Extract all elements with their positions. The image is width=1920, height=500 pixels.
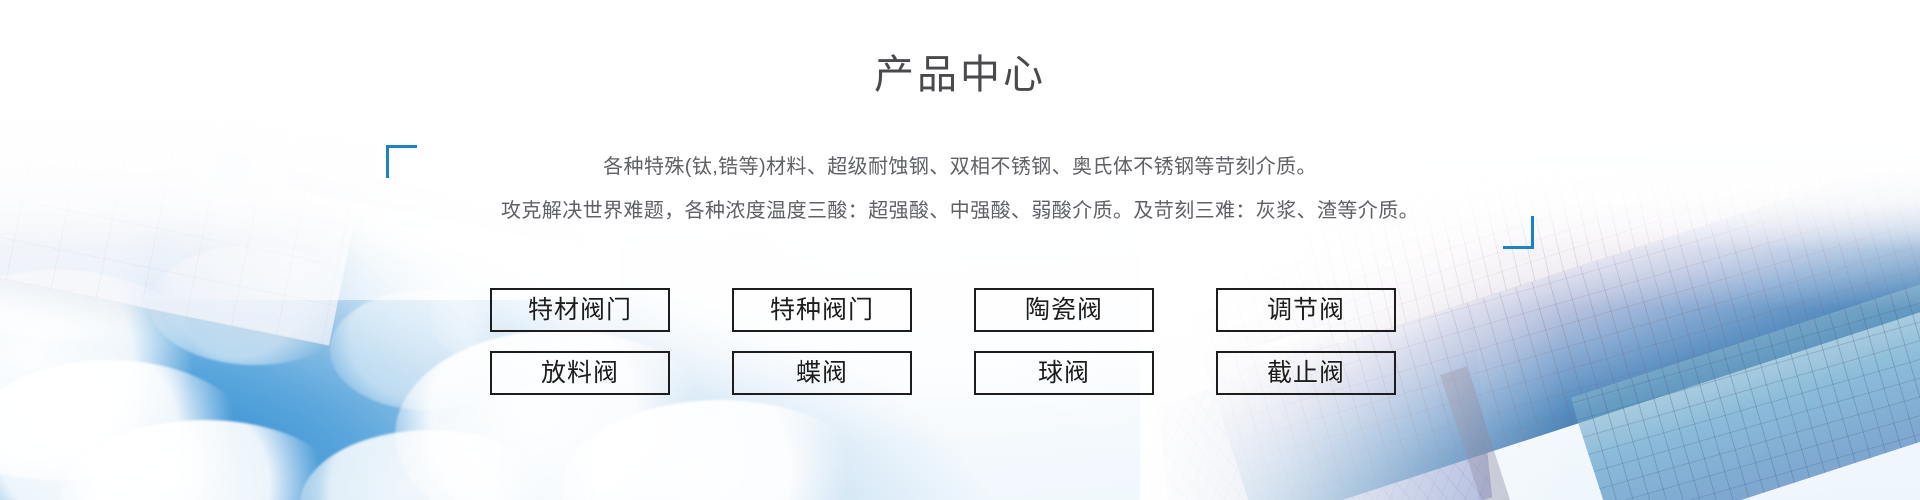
category-button-jiezhi-fa[interactable]: 截止阀 — [1216, 351, 1396, 395]
category-button-tecai-famen[interactable]: 特材阀门 — [490, 288, 670, 332]
banner-content: 产品中心 各种特殊(钛,锆等)材料、超级耐蚀钢、双相不锈钢、奥氏体不锈钢等苛刻介… — [0, 0, 1920, 500]
description-line-2: 攻克解决世界难题，各种浓度温度三酸：超强酸、中强酸、弱酸介质。及苛刻三难：灰浆、… — [360, 189, 1560, 233]
category-row-1: 特材阀门 特种阀门 陶瓷阀 调节阀 — [490, 288, 1430, 332]
category-button-tezhong-famen[interactable]: 特种阀门 — [732, 288, 912, 332]
category-button-fangliao-fa[interactable]: 放料阀 — [490, 351, 670, 395]
description-line-1: 各种特殊(钛,锆等)材料、超级耐蚀钢、双相不锈钢、奥氏体不锈钢等苛刻介质。 — [360, 145, 1560, 189]
category-button-qiu-fa[interactable]: 球阀 — [974, 351, 1154, 395]
category-button-taoci-fa[interactable]: 陶瓷阀 — [974, 288, 1154, 332]
category-button-tiaojie-fa[interactable]: 调节阀 — [1216, 288, 1396, 332]
category-row-2: 放料阀 蝶阀 球阀 截止阀 — [490, 351, 1430, 395]
page-title: 产品中心 — [0, 52, 1920, 98]
product-center-banner: 产品中心 各种特殊(钛,锆等)材料、超级耐蚀钢、双相不锈钢、奥氏体不锈钢等苛刻介… — [0, 0, 1920, 500]
description-block: 各种特殊(钛,锆等)材料、超级耐蚀钢、双相不锈钢、奥氏体不锈钢等苛刻介质。 攻克… — [360, 145, 1560, 245]
category-button-grid: 特材阀门 特种阀门 陶瓷阀 调节阀 放料阀 蝶阀 球阀 截止阀 — [490, 288, 1430, 414]
category-button-die-fa[interactable]: 蝶阀 — [732, 351, 912, 395]
